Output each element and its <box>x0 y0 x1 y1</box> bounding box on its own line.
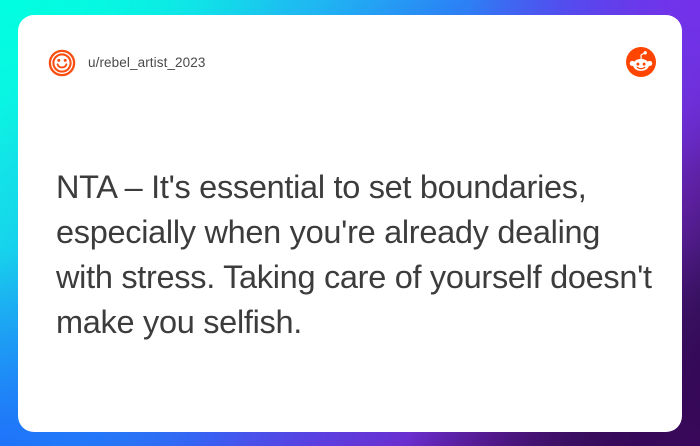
smiley-face-avatar-icon <box>48 49 76 77</box>
username-label: u/rebel_artist_2023 <box>88 56 205 70</box>
reddit-quote-card-screenshot: u/rebel_artist_2023 NTA – It's essential… <box>0 0 700 446</box>
quote-card: u/rebel_artist_2023 NTA – It's essential… <box>18 15 682 432</box>
reddit-snoo-logo-icon[interactable] <box>626 47 656 77</box>
card-header: u/rebel_artist_2023 <box>48 43 656 83</box>
quote-text: NTA – It's essential to set boundaries, … <box>56 165 652 345</box>
avatar[interactable] <box>48 49 76 77</box>
